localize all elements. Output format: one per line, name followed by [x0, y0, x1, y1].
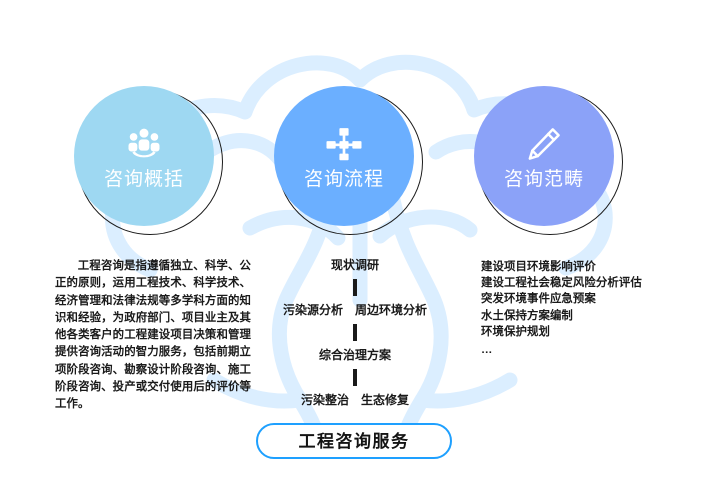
node-circle-fill[interactable]: 咨询概括: [74, 86, 214, 226]
list-item: 建设工程社会稳定风险分析评估: [481, 275, 696, 291]
infographic-canvas: 咨询概括: [0, 0, 707, 500]
pencil-edit-icon: [524, 124, 564, 164]
flow-step-4-item-1: 污染整治: [301, 391, 349, 409]
node-circle-fill[interactable]: 咨询范畴: [474, 86, 614, 226]
org-chart-icon: [324, 124, 364, 164]
list-ellipsis: …: [481, 342, 696, 358]
flow-connector: [353, 324, 357, 341]
flow-step-1: 现状调研: [255, 256, 455, 274]
content-columns: 工程咨询是指遵循独立、科学、公正的原则，运用工程技术、科学技术、经济管理和法律法…: [0, 252, 707, 422]
flow-step-4: 污染整治 生态修复: [255, 391, 455, 409]
flow-step-2-item-1: 污染源分析: [283, 301, 343, 319]
list-item: 水土保持方案编制: [481, 308, 696, 324]
list-item: 建设项目环境影响评价: [481, 259, 696, 275]
flow-step-3: 综合治理方案: [255, 346, 455, 364]
flow-connector: [353, 279, 357, 296]
node-label: 咨询概括: [104, 170, 184, 189]
node-label: 咨询范畴: [504, 170, 584, 189]
node-row: 咨询概括: [0, 0, 707, 250]
flow-step-2: 污染源分析 周边环境分析: [255, 301, 455, 319]
list-item: 突发环境事件应急预案: [481, 291, 696, 307]
flow-step-4-item-2: 生态修复: [361, 391, 409, 409]
node-circle-fill[interactable]: 咨询流程: [274, 86, 414, 226]
flow-connector: [353, 369, 357, 386]
node-label: 咨询流程: [304, 170, 384, 189]
flow-step-2-item-2: 周边环境分析: [355, 301, 427, 319]
bottom-title-label: 工程咨询服务: [299, 433, 410, 450]
overview-paragraph: 工程咨询是指遵循独立、科学、公正的原则，运用工程技术、科学技术、经济管理和法律法…: [55, 258, 251, 414]
list-item: 环境保护规划: [481, 324, 696, 340]
bottom-title-pill[interactable]: 工程咨询服务: [256, 423, 452, 459]
scope-list: 建设项目环境影响评价 建设工程社会稳定风险分析评估 突发环境事件应急预案 水土保…: [481, 259, 696, 358]
node-overview[interactable]: 咨询概括: [74, 86, 226, 238]
process-flow: 现状调研 污染源分析 周边环境分析 综合治理方案 污染整治 生态修复: [255, 256, 455, 409]
people-group-icon: [124, 124, 164, 164]
node-process[interactable]: 咨询流程: [274, 86, 426, 238]
node-scope[interactable]: 咨询范畴: [474, 86, 626, 238]
